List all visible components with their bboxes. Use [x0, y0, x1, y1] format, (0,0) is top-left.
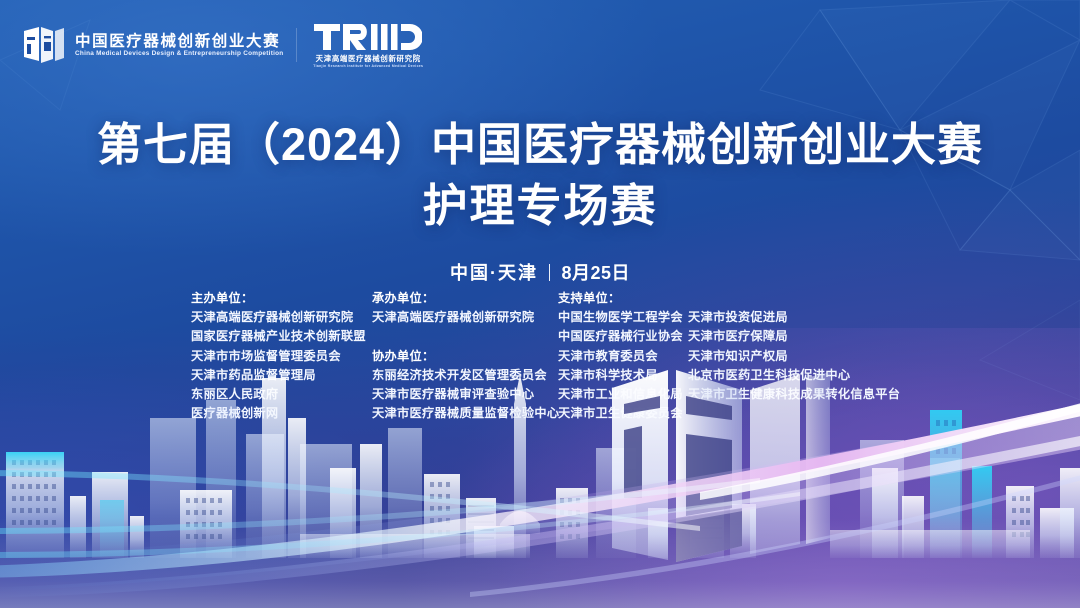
header-logos: 中国医疗器械创新创业大赛 China Medical Devices Desig… [22, 22, 423, 69]
poster-title: 第七届（2024）中国医疗器械创新创业大赛 护理专场赛 [0, 118, 1080, 232]
title-line-2: 护理专场赛 [0, 179, 1080, 232]
open-door-logo-icon [22, 25, 66, 65]
column-spacer [372, 327, 558, 346]
poster-canvas: 中国医疗器械创新创业大赛 China Medical Devices Desig… [0, 0, 1080, 608]
supporter-item: 中国生物医学工程学会 [558, 308, 688, 327]
triid-institute-name-en: Tianjin Research Institute for Advanced … [313, 65, 423, 68]
host-item: 国家医疗器械产业技术创新联盟 [191, 327, 372, 346]
host-item: 天津高端医疗器械创新研究院 [191, 308, 372, 327]
triid-wordmark-icon [314, 22, 422, 52]
location-text: 中国·天津 [450, 259, 538, 285]
competition-logo[interactable]: 中国医疗器械创新创业大赛 China Medical Devices Desig… [22, 25, 280, 65]
organizer-heading: 承办单位： [372, 289, 558, 308]
triid-logo[interactable]: 天津高端医疗器械创新研究院 Tianjin Research Institute… [313, 22, 423, 69]
supporter-item: 中国医疗器械行业协会 [558, 327, 688, 346]
logo-divider [296, 28, 297, 62]
supporter-item: 天津市投资促进局 [688, 308, 900, 327]
date-text: 8月25日 [561, 259, 630, 285]
supporter-heading: 支持单位： [558, 289, 900, 308]
competition-name-en: China Medical Devices Design & Entrepren… [75, 51, 284, 57]
city-skyline-graphic [0, 348, 1080, 608]
date-separator [549, 264, 551, 281]
supporter-item: 天津市医疗保障局 [688, 327, 900, 346]
organizer-item: 天津高端医疗器械创新研究院 [372, 308, 558, 327]
host-heading: 主办单位： [191, 289, 372, 308]
competition-logo-text: 中国医疗器械创新创业大赛 China Medical Devices Desig… [75, 34, 280, 58]
title-line-1: 第七届（2024）中国医疗器械创新创业大赛 [0, 118, 1080, 171]
triid-institute-name-cn: 天津高端医疗器械创新研究院 [316, 55, 421, 62]
date-location-row: 中国·天津 8月25日 [0, 259, 1080, 285]
competition-name-cn: 中国医疗器械创新创业大赛 [75, 34, 280, 50]
